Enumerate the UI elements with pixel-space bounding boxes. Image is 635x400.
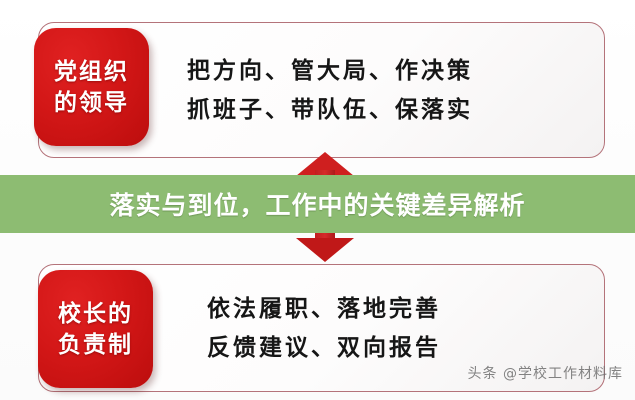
arrow-head-down-icon xyxy=(296,238,354,262)
bottom-badge-line-1: 校长的 xyxy=(58,298,133,329)
badge-principal-responsibility-system: 校长的 负责制 xyxy=(38,270,153,388)
top-badge-line-2: 的领导 xyxy=(54,87,129,118)
top-card-line-2: 抓班子、带队伍、保落实 xyxy=(187,93,586,126)
top-card-line-1: 把方向、管大局、作决策 xyxy=(187,54,586,87)
bottom-badge-line-2: 负责制 xyxy=(58,329,133,360)
bottom-card-line-1: 依法履职、落地完善 xyxy=(207,292,586,325)
infographic-screen: 落实 把方向、管大局、作决策 抓班子、带队伍、保落实 党组织 的领导 落实与到位… xyxy=(0,0,635,400)
top-badge-line-1: 党组织 xyxy=(54,56,129,87)
source-watermark: 头条 @学校工作材料库 xyxy=(468,363,623,383)
band-title-text: 落实与到位，工作中的关键差异解析 xyxy=(109,186,525,222)
bottom-card-line-2: 反馈建议、双向报告 xyxy=(207,331,586,364)
badge-party-organization-leadership: 党组织 的领导 xyxy=(34,28,149,146)
title-band: 落实与到位，工作中的关键差异解析 xyxy=(0,175,635,233)
top-card-text-block: 把方向、管大局、作决策 抓班子、带队伍、保落实 xyxy=(187,23,586,157)
